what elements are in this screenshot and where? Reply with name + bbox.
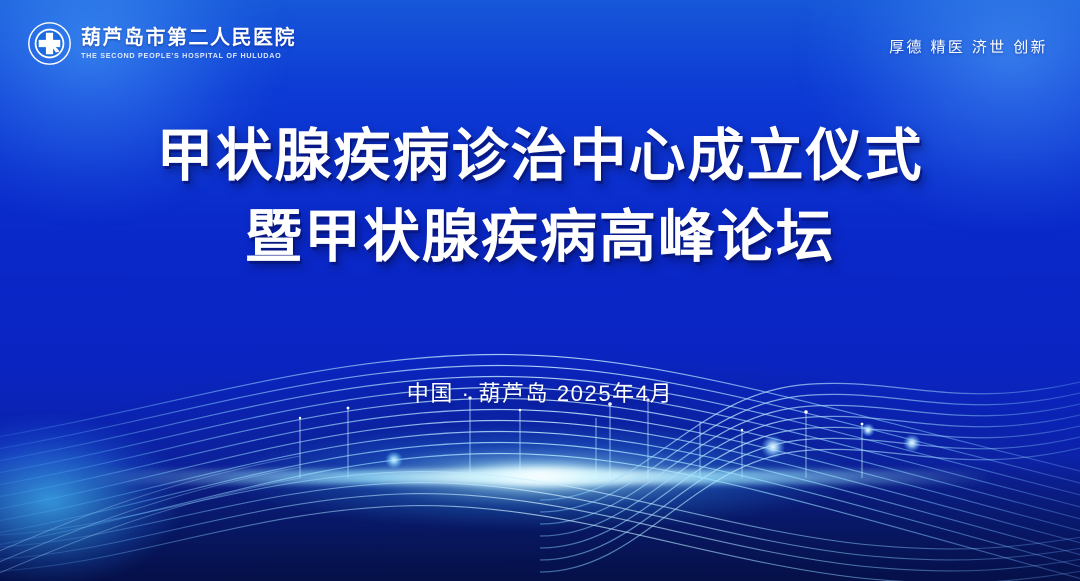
- hospital-name-en: THE SECOND PEOPLE'S HOSPITAL OF HULUDAO: [81, 51, 296, 60]
- poster-title: 甲状腺疾病诊治中心成立仪式 暨甲状腺疾病高峰论坛: [0, 116, 1080, 278]
- hospital-motto: 厚德 精医 济世 创新: [889, 36, 1048, 57]
- poster-canvas: · · · 葫芦岛市第二人民医院 THE SECOND PEOPLE'S HOS…: [0, 0, 1080, 581]
- hospital-logo-text: 葫芦岛市第二人民医院 THE SECOND PEOPLE'S HOSPITAL …: [81, 28, 296, 60]
- title-line-2: 暨甲状腺疾病高峰论坛: [0, 197, 1080, 278]
- hospital-name-cn: 葫芦岛市第二人民医院: [81, 28, 296, 49]
- hospital-logo: · · · 葫芦岛市第二人民医院 THE SECOND PEOPLE'S HOS…: [27, 21, 296, 66]
- poster-header: · · · 葫芦岛市第二人民医院 THE SECOND PEOPLE'S HOS…: [0, 0, 1080, 84]
- title-line-1: 甲状腺疾病诊治中心成立仪式: [0, 116, 1080, 197]
- wave-ribbon-front: [0, 0, 1080, 581]
- poster-subtitle: 中国 · 葫芦岛 2025年4月: [0, 376, 1080, 408]
- hospital-cross-emblem-icon: · · ·: [27, 21, 72, 66]
- svg-text:· · ·: · · ·: [47, 28, 53, 32]
